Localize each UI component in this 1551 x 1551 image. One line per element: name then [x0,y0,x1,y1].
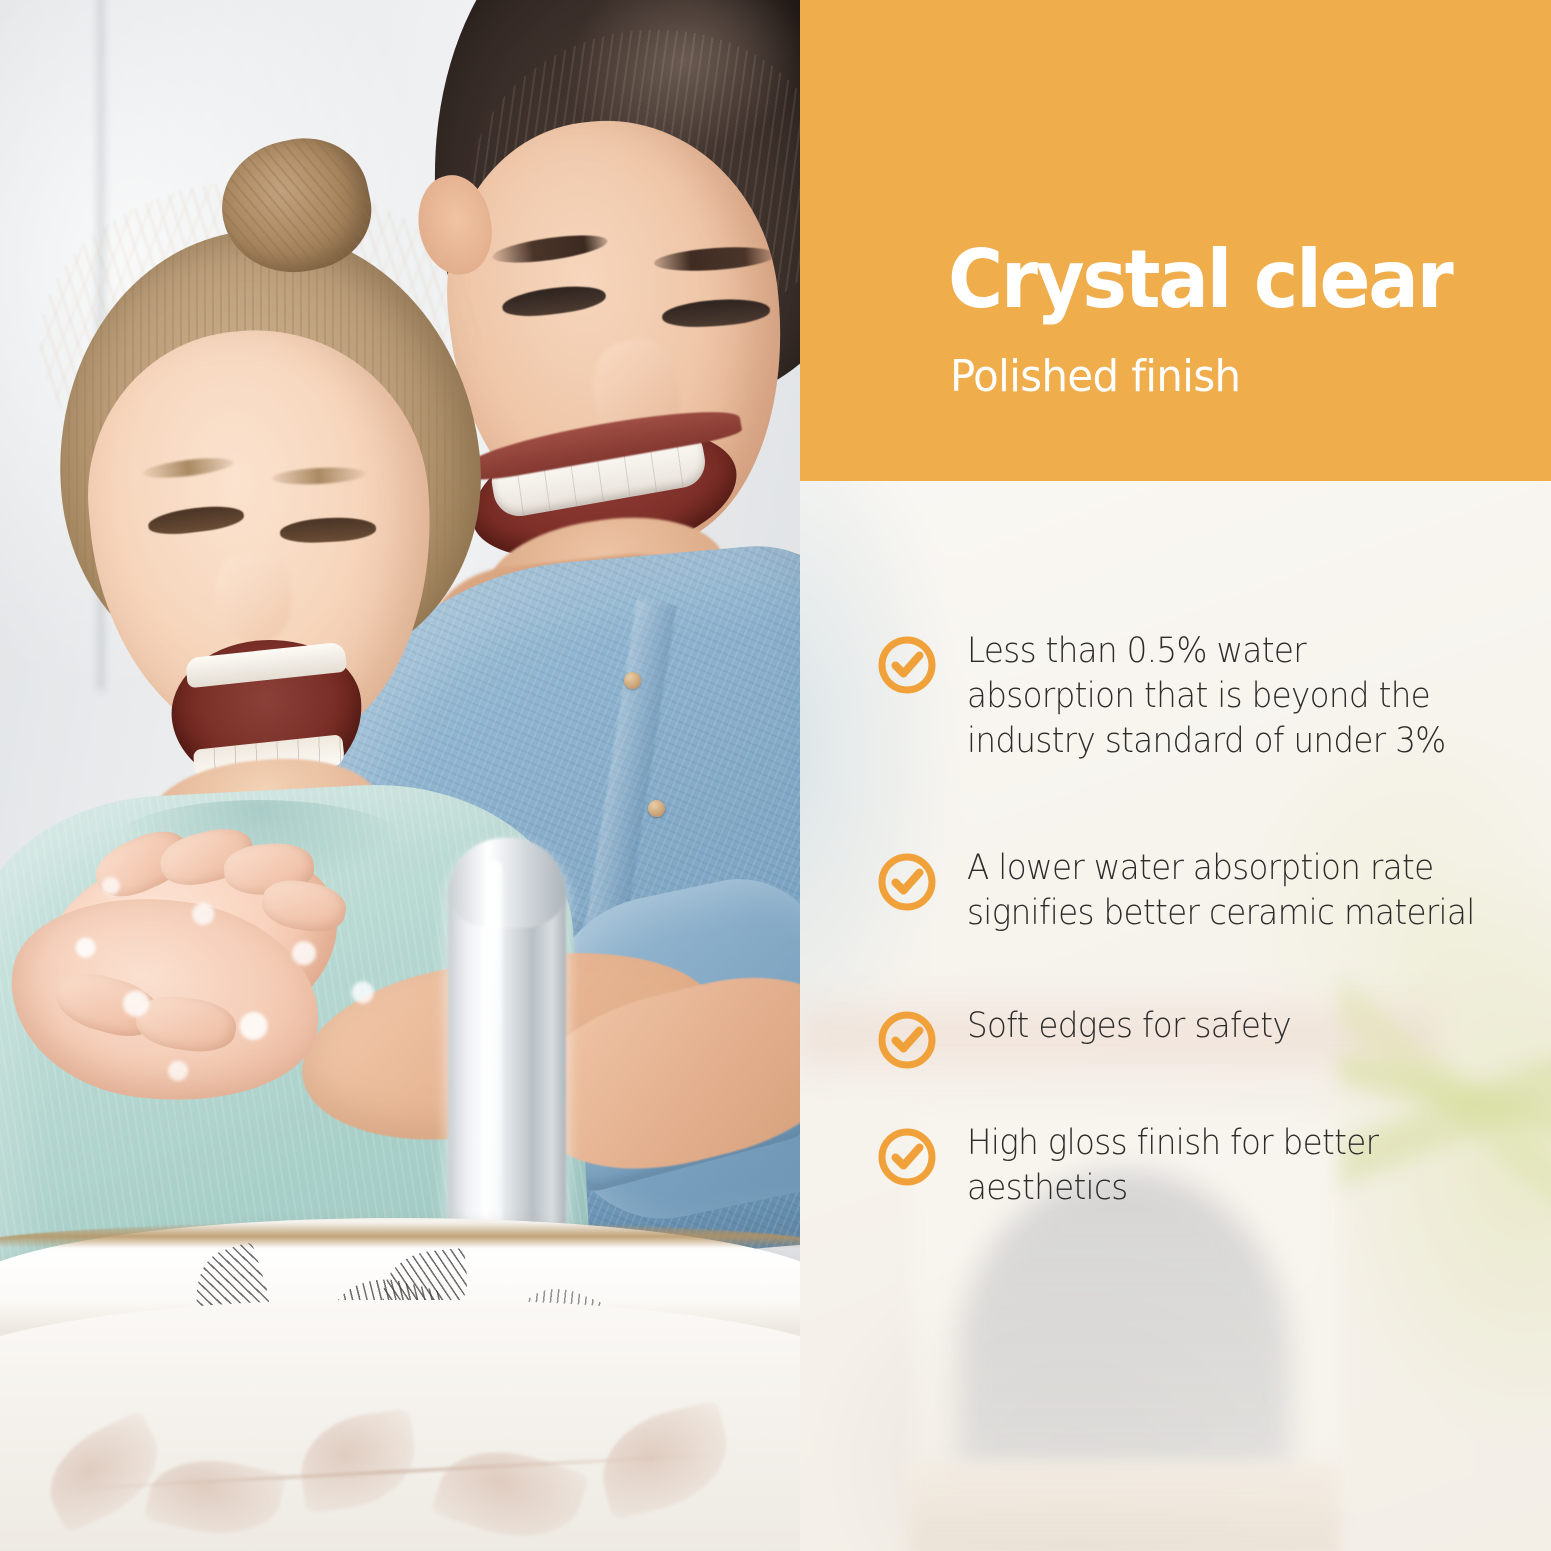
feature-text: Soft edges for safety [967,1004,1479,1049]
feature-item-2[interactable]: A lower water absorption rate signifies … [877,846,1517,936]
page-title: Crystal clear [948,240,1451,320]
check-circle-icon [877,1010,937,1070]
check-circle-icon [877,1127,937,1187]
feature-item-4[interactable]: High gloss finish for better aesthetics [877,1121,1517,1211]
mother-shirt-button [624,672,641,689]
check-circle-icon [877,635,937,695]
feature-item-3[interactable]: Soft edges for safety [877,1004,1517,1070]
features-panel: Less than 0.5% water absorption that is … [800,481,1551,1551]
feature-text: Less than 0.5% water absorption that is … [967,629,1479,764]
header-panel: Crystal clear Polished finish [800,0,1551,481]
lifestyle-photo [0,0,800,1551]
check-circle-icon [877,852,937,912]
page-subtitle: Polished finish [950,355,1240,399]
feature-text: High gloss finish for better aesthetics [967,1121,1479,1211]
feature-item-1[interactable]: Less than 0.5% water absorption that is … [877,629,1517,764]
feature-list: Less than 0.5% water absorption that is … [800,481,1551,1551]
infographic-canvas: Crystal clear Polished finish Less than … [0,0,1551,1551]
mother-shirt-button [648,800,665,817]
soap-suds [10,830,430,1110]
feature-text: A lower water absorption rate signifies … [967,846,1479,936]
soapy-hands-group [10,830,430,1110]
